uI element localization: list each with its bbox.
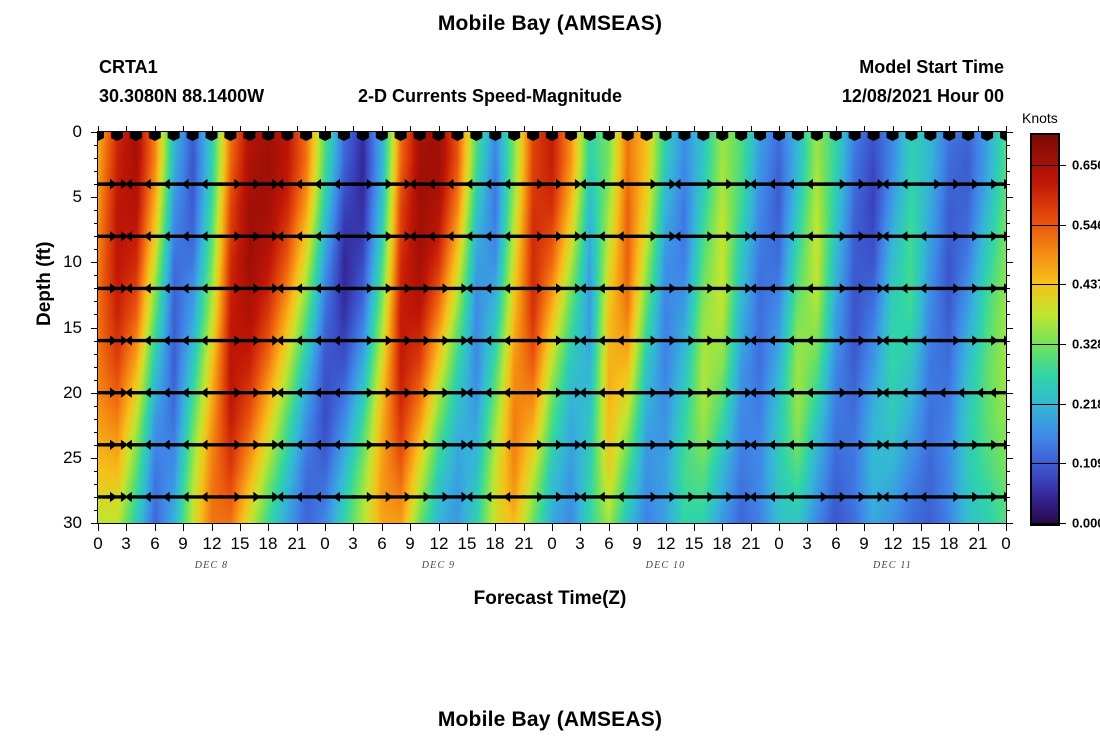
x-axis-tick-top	[580, 126, 581, 132]
colorbar-separator	[1032, 404, 1058, 405]
x-axis-day-label: DEC 11	[873, 560, 912, 571]
colorbar: 0.656250.5468750.4375000.3281250.2187500…	[1030, 133, 1060, 526]
y-axis-minor-tick	[94, 367, 98, 368]
colorbar-separator	[1032, 165, 1058, 166]
y-axis-minor-tick-right	[1006, 158, 1010, 159]
x-axis-tick-top	[666, 126, 667, 132]
y-axis-minor-tick	[94, 510, 98, 511]
x-axis-tick-top	[98, 126, 99, 132]
y-axis-minor-tick-right	[1006, 210, 1010, 211]
x-axis-tick-top	[183, 126, 184, 132]
x-axis-tick-label: 9	[178, 534, 187, 554]
station-coordinates: 30.3080N 88.1400W	[99, 86, 264, 107]
x-axis-tick-label: 6	[150, 534, 159, 554]
x-axis-tick-label: 18	[259, 534, 278, 554]
colorbar-gradient	[1032, 135, 1058, 524]
y-axis-minor-tick-right	[1006, 275, 1010, 276]
colorbar-tick	[1058, 165, 1066, 166]
y-axis-minor-tick-right	[1006, 249, 1010, 250]
x-axis-tick	[268, 524, 269, 531]
colorbar-tick	[1058, 463, 1066, 464]
x-axis-tick-label: 0	[547, 534, 556, 554]
x-axis-tick-label: 9	[632, 534, 641, 554]
x-axis-day-label: DEC 8	[195, 560, 229, 571]
y-axis-minor-tick-right	[1006, 171, 1010, 172]
y-axis-minor-tick	[94, 432, 98, 433]
model-start-time-label: Model Start Time	[859, 57, 1004, 78]
x-axis-tick-label: 9	[859, 534, 868, 554]
x-axis-tick-label: 0	[93, 534, 102, 554]
y-axis-minor-tick	[94, 341, 98, 342]
y-axis-minor-tick-right	[1006, 184, 1010, 185]
x-axis-tick-label: 21	[515, 534, 534, 554]
colorbar-tick-label: 0.218750	[1072, 397, 1100, 412]
x-axis-tick	[807, 524, 808, 531]
x-axis-tick-top	[949, 126, 950, 132]
x-axis-tick-label: 15	[231, 534, 250, 554]
x-axis-tick-label: 3	[575, 534, 584, 554]
y-axis-tick-right	[1006, 393, 1013, 394]
x-axis-tick-label: 12	[657, 534, 676, 554]
x-axis-tick-top	[921, 126, 922, 132]
x-axis-tick	[722, 524, 723, 531]
y-axis-minor-tick	[94, 484, 98, 485]
y-axis-minor-tick	[94, 314, 98, 315]
y-axis-tick-right	[1006, 523, 1013, 524]
x-axis-tick	[467, 524, 468, 531]
x-axis-tick-top	[722, 126, 723, 132]
y-axis-title: Depth (ft)	[34, 242, 56, 326]
x-axis-tick-top	[155, 126, 156, 132]
y-axis-tick	[91, 523, 98, 524]
x-axis-tick	[98, 524, 99, 531]
x-axis-tick	[779, 524, 780, 531]
x-axis-tick	[439, 524, 440, 531]
x-axis-tick-top	[694, 126, 695, 132]
y-axis-tick	[91, 393, 98, 394]
y-axis-minor-tick-right	[1006, 288, 1010, 289]
y-axis-minor-tick	[94, 419, 98, 420]
x-axis-tick	[240, 524, 241, 531]
x-axis-tick	[893, 524, 894, 531]
y-axis-minor-tick-right	[1006, 497, 1010, 498]
x-axis-tick	[949, 524, 950, 531]
x-axis-tick-label: 0	[1001, 534, 1010, 554]
x-axis-tick-label: 3	[121, 534, 130, 554]
x-axis-tick	[552, 524, 553, 531]
y-axis-minor-tick-right	[1006, 432, 1010, 433]
colorbar-tick	[1058, 404, 1066, 405]
x-axis-tick	[921, 524, 922, 531]
x-axis-tick-top	[779, 126, 780, 132]
y-axis-tick-label: 0	[73, 122, 82, 142]
x-axis-tick	[410, 524, 411, 531]
y-axis-minor-tick-right	[1006, 223, 1010, 224]
x-axis-tick-top	[893, 126, 894, 132]
y-axis-minor-tick	[94, 184, 98, 185]
y-axis-tick	[91, 328, 98, 329]
x-axis-tick-top	[240, 126, 241, 132]
y-axis-minor-tick-right	[1006, 484, 1010, 485]
colorbar-separator	[1032, 523, 1058, 524]
x-axis-day-label: DEC 10	[646, 560, 686, 571]
x-axis-tick-top	[297, 126, 298, 132]
x-axis-tick-label: 18	[486, 534, 505, 554]
x-axis-tick	[1006, 524, 1007, 531]
x-axis-tick-top	[807, 126, 808, 132]
x-axis-tick-label: 21	[742, 534, 761, 554]
y-axis-minor-tick	[94, 249, 98, 250]
x-axis-tick-label: 9	[405, 534, 414, 554]
x-axis-tick-label: 3	[802, 534, 811, 554]
x-axis-tick-top	[467, 126, 468, 132]
y-axis-minor-tick-right	[1006, 380, 1010, 381]
y-axis-minor-tick	[94, 223, 98, 224]
x-axis-tick-top	[126, 126, 127, 132]
colorbar-tick-label: 0.65625	[1072, 158, 1100, 173]
y-axis-minor-tick	[94, 471, 98, 472]
y-axis-tick-label: 5	[73, 187, 82, 207]
colorbar-tick	[1058, 523, 1066, 524]
y-axis-minor-tick	[94, 145, 98, 146]
x-axis-tick-label: 18	[940, 534, 959, 554]
colorbar-separator	[1032, 463, 1058, 464]
colorbar-tick-label: 0.109375	[1072, 456, 1100, 471]
x-axis-day-label: DEC 9	[422, 560, 456, 571]
x-axis-tick	[609, 524, 610, 531]
x-axis-tick-label: 21	[969, 534, 988, 554]
y-axis-minor-tick	[94, 210, 98, 211]
x-axis-tick	[637, 524, 638, 531]
y-axis-minor-tick	[94, 275, 98, 276]
y-axis-tick	[91, 197, 98, 198]
y-axis-minor-tick-right	[1006, 471, 1010, 472]
x-axis-tick	[666, 524, 667, 531]
y-axis-minor-tick-right	[1006, 301, 1010, 302]
x-axis-tick-label: 15	[685, 534, 704, 554]
current-speed-heatmap	[98, 132, 1006, 523]
x-axis-tick	[155, 524, 156, 531]
x-axis-tick-label: 6	[377, 534, 386, 554]
x-axis-tick-label: 15	[912, 534, 931, 554]
x-axis-tick-top	[325, 126, 326, 132]
x-axis-tick	[864, 524, 865, 531]
x-axis-tick	[297, 524, 298, 531]
x-axis-tick	[382, 524, 383, 531]
x-axis-tick	[353, 524, 354, 531]
x-axis-tick-label: 12	[203, 534, 222, 554]
y-axis-tick-label: 15	[63, 318, 82, 338]
x-axis-tick-top	[637, 126, 638, 132]
y-axis-tick-label: 20	[63, 383, 82, 403]
heatmap-plot-area: 0369121518210369121518210369121518210369…	[97, 131, 1007, 524]
y-axis-minor-tick	[94, 236, 98, 237]
y-axis-minor-tick	[94, 158, 98, 159]
x-axis-tick-label: 0	[320, 534, 329, 554]
x-axis-tick-top	[212, 126, 213, 132]
x-axis-tick-top	[268, 126, 269, 132]
plot-subtitle: 2-D Currents Speed-Magnitude	[358, 86, 622, 107]
y-axis-tick-right	[1006, 197, 1013, 198]
x-axis-tick	[580, 524, 581, 531]
model-start-time-value: 12/08/2021 Hour 00	[842, 86, 1004, 107]
x-axis-tick	[978, 524, 979, 531]
colorbar-separator	[1032, 225, 1058, 226]
y-axis-tick	[91, 262, 98, 263]
y-axis-minor-tick	[94, 445, 98, 446]
colorbar-separator	[1032, 344, 1058, 345]
y-axis-tick-label: 30	[63, 513, 82, 533]
x-axis-tick-label: 18	[713, 534, 732, 554]
y-axis-minor-tick-right	[1006, 236, 1010, 237]
x-axis-tick-label: 6	[831, 534, 840, 554]
x-axis-tick-top	[353, 126, 354, 132]
y-axis-minor-tick-right	[1006, 341, 1010, 342]
colorbar-separator	[1032, 284, 1058, 285]
y-axis-tick-right	[1006, 328, 1013, 329]
x-axis-tick-top	[439, 126, 440, 132]
x-axis-tick-top	[552, 126, 553, 132]
x-axis-tick	[126, 524, 127, 531]
x-axis-tick	[694, 524, 695, 531]
y-axis-tick-right	[1006, 262, 1013, 263]
y-axis-minor-tick	[94, 380, 98, 381]
x-axis-tick-label: 12	[430, 534, 449, 554]
y-axis-minor-tick-right	[1006, 145, 1010, 146]
y-axis-tick-label: 25	[63, 448, 82, 468]
station-id: CRTA1	[99, 57, 158, 78]
x-axis-tick-top	[410, 126, 411, 132]
y-axis-minor-tick	[94, 497, 98, 498]
y-axis-minor-tick	[94, 406, 98, 407]
x-axis-tick-label: 0	[774, 534, 783, 554]
colorbar-tick-label: 0.328125	[1072, 337, 1100, 352]
y-axis-tick	[91, 132, 98, 133]
colorbar-tick-label: 0.546875	[1072, 218, 1100, 233]
page-title: Mobile Bay (AMSEAS)	[0, 12, 1100, 36]
x-axis-tick-top	[836, 126, 837, 132]
y-axis-minor-tick-right	[1006, 314, 1010, 315]
x-axis-tick	[495, 524, 496, 531]
colorbar-tick-label: 0.437500	[1072, 277, 1100, 292]
y-axis-minor-tick-right	[1006, 354, 1010, 355]
y-axis-minor-tick-right	[1006, 419, 1010, 420]
y-axis-tick	[91, 458, 98, 459]
y-axis-minor-tick-right	[1006, 406, 1010, 407]
y-axis-tick-label: 10	[63, 252, 82, 272]
x-axis-tick-top	[751, 126, 752, 132]
x-axis-tick-label: 6	[604, 534, 613, 554]
x-axis-tick	[325, 524, 326, 531]
y-axis-minor-tick-right	[1006, 445, 1010, 446]
x-axis-title: Forecast Time(Z)	[0, 588, 1100, 610]
x-axis-tick-top	[495, 126, 496, 132]
y-axis-tick-right	[1006, 132, 1013, 133]
colorbar-unit-label: Knots	[1022, 110, 1058, 126]
x-axis-tick-top	[524, 126, 525, 132]
y-axis-tick-right	[1006, 458, 1013, 459]
x-axis-tick-label: 12	[884, 534, 903, 554]
x-axis-tick-label: 3	[348, 534, 357, 554]
x-axis-tick-top	[864, 126, 865, 132]
x-axis-tick	[183, 524, 184, 531]
x-axis-tick-label: 21	[288, 534, 307, 554]
y-axis-minor-tick-right	[1006, 510, 1010, 511]
y-axis-minor-tick	[94, 301, 98, 302]
x-axis-tick	[751, 524, 752, 531]
y-axis-minor-tick	[94, 171, 98, 172]
x-axis-tick	[524, 524, 525, 531]
page-title-bottom: Mobile Bay (AMSEAS)	[0, 708, 1100, 732]
colorbar-tick	[1058, 225, 1066, 226]
colorbar-tick-label: 0.000000	[1072, 516, 1100, 531]
x-axis-tick-top	[382, 126, 383, 132]
x-axis-tick	[212, 524, 213, 531]
y-axis-minor-tick-right	[1006, 367, 1010, 368]
colorbar-tick	[1058, 344, 1066, 345]
x-axis-tick	[836, 524, 837, 531]
x-axis-tick-top	[609, 126, 610, 132]
y-axis-minor-tick	[94, 354, 98, 355]
y-axis-minor-tick	[94, 288, 98, 289]
colorbar-tick	[1058, 284, 1066, 285]
x-axis-tick-label: 15	[458, 534, 477, 554]
x-axis-tick-top	[978, 126, 979, 132]
